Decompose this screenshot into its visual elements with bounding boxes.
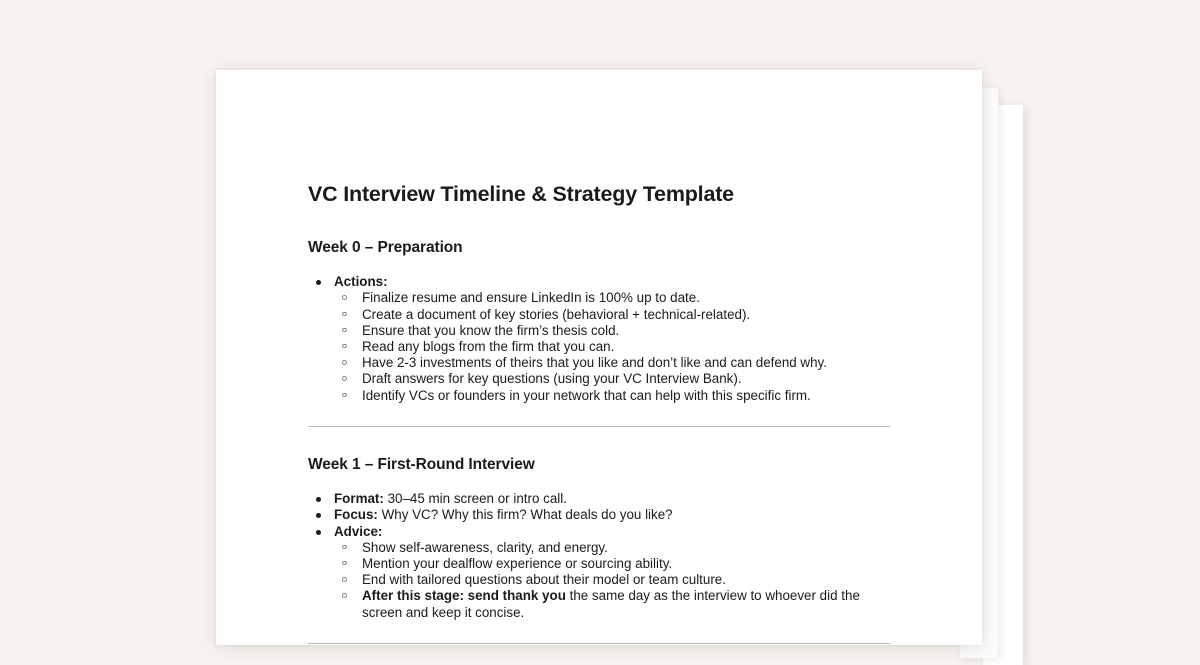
list-item: Mention your dealflow experience or sour… bbox=[334, 556, 890, 572]
bullet-circle-icon bbox=[342, 376, 347, 381]
week-0-sub-list: Finalize resume and ensure LinkedIn is 1… bbox=[334, 290, 890, 403]
list-item: Format: 30–45 min screen or intro call. bbox=[308, 491, 890, 507]
section-heading-week-1: Week 1 – First-Round Interview bbox=[308, 455, 890, 474]
list-item: Ensure that you know the firm’s thesis c… bbox=[334, 323, 890, 339]
sub-item-text: Create a document of key stories (behavi… bbox=[362, 307, 750, 322]
bullet-label: Advice: bbox=[334, 524, 382, 539]
section-week-0: Week 0 – Preparation Actions: Finalize r… bbox=[308, 238, 890, 404]
bullet-circle-icon bbox=[342, 360, 347, 365]
bullet-disc-icon bbox=[316, 280, 321, 285]
week-1-advice-list: Show self-awareness, clarity, and energy… bbox=[334, 540, 890, 621]
sub-item-text: Show self-awareness, clarity, and energy… bbox=[362, 540, 608, 555]
sub-item-text: End with tailored questions about their … bbox=[362, 572, 726, 587]
list-item: Draft answers for key questions (using y… bbox=[334, 371, 890, 387]
page-title: VC Interview Timeline & Strategy Templat… bbox=[308, 182, 890, 208]
bullet-circle-icon bbox=[342, 593, 347, 598]
list-item: Read any blogs from the firm that you ca… bbox=[334, 339, 890, 355]
bullet-label: Format: bbox=[334, 491, 384, 506]
list-item: Actions: Finalize resume and ensure Link… bbox=[308, 274, 890, 404]
sub-item-text: Ensure that you know the firm’s thesis c… bbox=[362, 323, 619, 338]
list-item: Have 2-3 investments of theirs that you … bbox=[334, 355, 890, 371]
section-heading-week-0: Week 0 – Preparation bbox=[308, 238, 890, 257]
bullet-label: Focus: bbox=[334, 507, 378, 522]
bullet-circle-icon bbox=[342, 561, 347, 566]
list-item: After this stage: send thank you the sam… bbox=[334, 588, 890, 620]
week-0-bullet-list: Actions: Finalize resume and ensure Link… bbox=[308, 274, 890, 404]
bullet-disc-icon bbox=[316, 497, 321, 502]
bullet-disc-icon bbox=[316, 513, 321, 518]
week-1-bullet-list: Format: 30–45 min screen or intro call. … bbox=[308, 491, 890, 621]
bullet-circle-icon bbox=[342, 328, 347, 333]
list-item: Create a document of key stories (behavi… bbox=[334, 307, 890, 323]
document-page-stack: VC Interview Timeline & Strategy Templat… bbox=[0, 0, 1200, 630]
section-week-1: Week 1 – First-Round Interview Format: 3… bbox=[308, 455, 890, 621]
sub-item-text: Have 2-3 investments of theirs that you … bbox=[362, 355, 827, 370]
list-item: End with tailored questions about their … bbox=[334, 572, 890, 588]
sub-item-label: After this stage: send thank you bbox=[362, 588, 566, 603]
bullet-circle-icon bbox=[342, 577, 347, 582]
sub-item-text: Identify VCs or founders in your network… bbox=[362, 388, 811, 403]
sub-item-text: Draft answers for key questions (using y… bbox=[362, 371, 742, 386]
bullet-text: 30–45 min screen or intro call. bbox=[384, 491, 567, 506]
list-item: Finalize resume and ensure LinkedIn is 1… bbox=[334, 290, 890, 306]
list-item: Identify VCs or founders in your network… bbox=[334, 388, 890, 404]
bullet-text: Why VC? Why this firm? What deals do you… bbox=[378, 507, 673, 522]
sub-item-text: Finalize resume and ensure LinkedIn is 1… bbox=[362, 290, 700, 305]
bullet-circle-icon bbox=[342, 393, 347, 398]
bullet-disc-icon bbox=[316, 530, 321, 535]
bullet-circle-icon bbox=[342, 545, 347, 550]
sub-item-text: Read any blogs from the firm that you ca… bbox=[362, 339, 614, 354]
bullet-circle-icon bbox=[342, 344, 347, 349]
bullet-circle-icon bbox=[342, 295, 347, 300]
document-page: VC Interview Timeline & Strategy Templat… bbox=[216, 70, 982, 645]
section-divider bbox=[308, 426, 890, 427]
bullet-label: Actions: bbox=[334, 274, 388, 289]
list-item: Advice: Show self-awareness, clarity, an… bbox=[308, 524, 890, 621]
document-content: VC Interview Timeline & Strategy Templat… bbox=[308, 182, 890, 645]
list-item: Focus: Why VC? Why this firm? What deals… bbox=[308, 507, 890, 523]
list-item: Show self-awareness, clarity, and energy… bbox=[334, 540, 890, 556]
section-divider bbox=[308, 643, 890, 644]
bullet-circle-icon bbox=[342, 312, 347, 317]
sub-item-text: Mention your dealflow experience or sour… bbox=[362, 556, 672, 571]
